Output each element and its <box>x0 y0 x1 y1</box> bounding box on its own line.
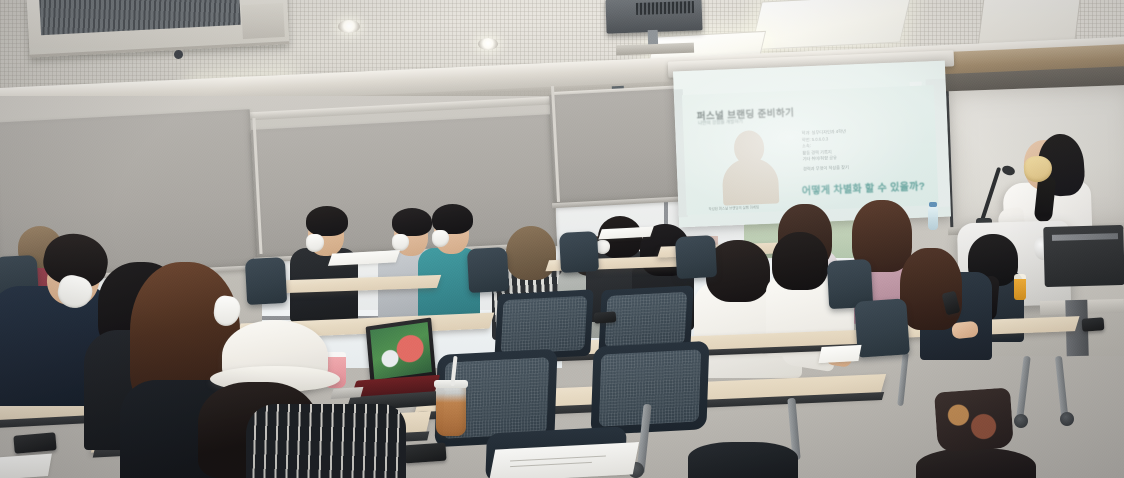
smartphone[interactable] <box>13 432 56 454</box>
student-hair <box>916 448 1036 478</box>
student-hair <box>772 232 828 290</box>
downlight-icon <box>478 38 498 50</box>
student-torso <box>246 404 406 478</box>
orange-drink <box>1014 274 1026 300</box>
iced-coffee-cup <box>436 384 466 436</box>
chair-caster <box>1060 412 1074 426</box>
projection-screen: 퍼스널 브랜딩 준비하기 나만의 강점을 개발하기 작성된 퍼스널 브랜딩의 실… <box>673 61 951 228</box>
handout-paper <box>0 454 52 478</box>
chair[interactable] <box>467 247 509 293</box>
chair[interactable] <box>675 235 717 279</box>
smartphone[interactable] <box>403 443 446 464</box>
chair[interactable] <box>854 298 910 357</box>
student-hair <box>306 206 348 236</box>
student-hair <box>392 208 432 236</box>
backpack <box>934 387 1014 452</box>
air-conditioner-end-cap <box>241 3 285 39</box>
student-hair <box>506 226 556 280</box>
desk-leg <box>1016 356 1031 418</box>
student-torso <box>688 442 798 478</box>
smartphone[interactable] <box>594 311 617 324</box>
chair[interactable] <box>559 231 599 273</box>
chair-mesh-back[interactable] <box>501 296 588 355</box>
desk-leg <box>1055 356 1068 416</box>
led-panel-icon <box>750 0 911 50</box>
chair-caster <box>1014 414 1028 428</box>
water-bottle-icon <box>928 206 938 230</box>
smartphone[interactable] <box>1082 317 1105 332</box>
desk-leg <box>897 352 909 406</box>
chair-mesh-back[interactable] <box>605 292 688 348</box>
chair[interactable] <box>245 257 287 305</box>
bottle-cap <box>929 202 937 207</box>
handout-paper <box>818 345 861 363</box>
screen-glare <box>673 61 951 228</box>
projector-vent <box>636 1 694 15</box>
student-hair <box>900 248 962 330</box>
downlight-icon <box>338 20 360 33</box>
classroom-photo: 퍼스널 브랜딩 준비하기 나만의 강점을 개발하기 작성된 퍼스널 브랜딩의 실… <box>0 0 1124 478</box>
laptop-lid-artwork <box>370 322 432 380</box>
